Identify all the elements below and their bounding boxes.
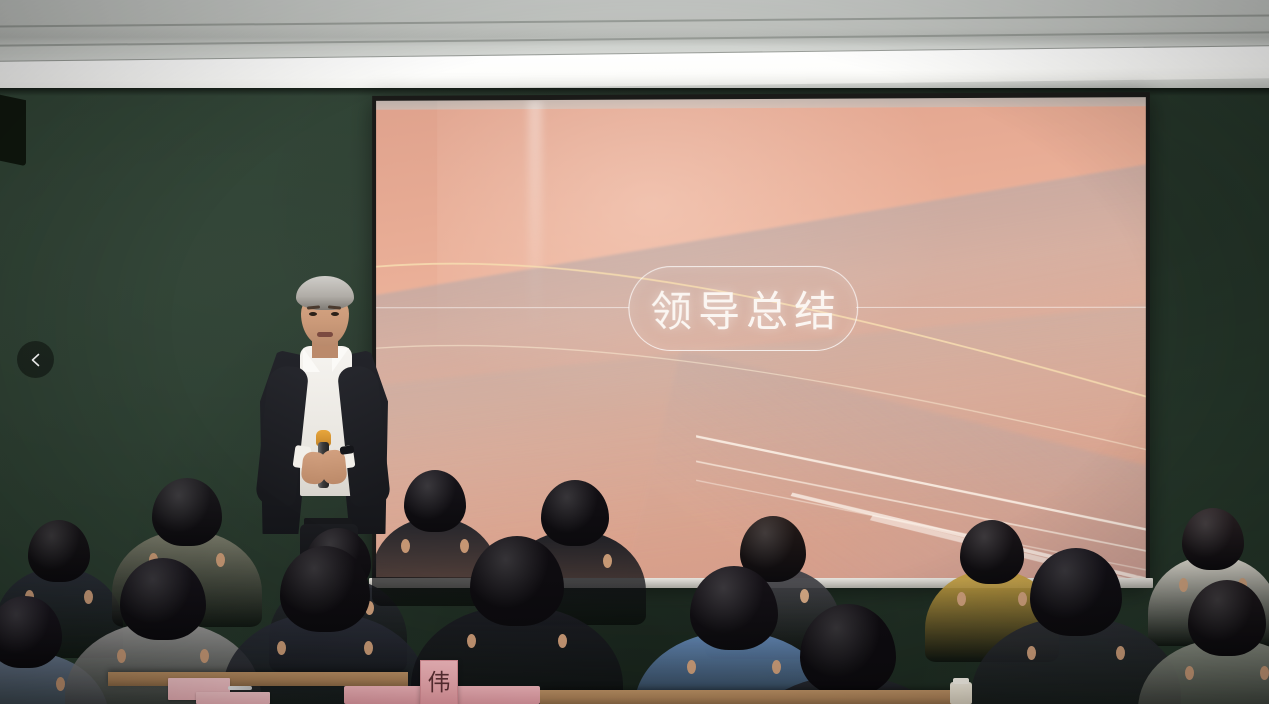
audience-member-head [404, 470, 466, 532]
audience-member-ear [364, 641, 373, 655]
audience-member-head [470, 536, 564, 626]
audience-member-head [1030, 548, 1122, 636]
audience-member-head [690, 566, 778, 650]
conference-table [540, 690, 960, 704]
audience-member-ear [56, 677, 65, 691]
audience-member-ear [687, 660, 696, 674]
audience-member-ear [1185, 666, 1194, 680]
audience-member-head [1188, 580, 1266, 656]
slide-title-pill: 领导总结 [628, 266, 858, 351]
name-placard-text: 伟 [428, 672, 451, 695]
audience-member-ear [277, 641, 286, 655]
audience-member-ear [772, 660, 781, 674]
audience-member-ear [1027, 646, 1036, 660]
slide-divider-right [856, 307, 1146, 309]
audience-member-head [28, 520, 90, 582]
audience [0, 444, 1269, 704]
chevron-left-icon [28, 352, 44, 368]
audience-member-head [960, 520, 1024, 584]
water-bottle-cap [953, 678, 969, 684]
presenter-hair [296, 276, 354, 310]
audience-member-head [0, 596, 62, 668]
audience-member-ear [1116, 646, 1125, 660]
audience-member-ear [1260, 666, 1269, 680]
audience-member-head [152, 478, 222, 546]
ceiling-seam [0, 31, 1269, 46]
audience-member-head [800, 604, 896, 696]
audience-member-ear [200, 649, 209, 663]
slide-title-text: 领导总结 [644, 278, 842, 339]
ceiling-speaker [0, 92, 26, 167]
audience-member-head [120, 558, 206, 640]
conference-table [108, 672, 408, 686]
audience-member-ear [1018, 592, 1027, 606]
presenter-eye [331, 312, 339, 316]
pen [228, 686, 252, 690]
audience-member-ear [117, 649, 126, 663]
audience-member [1188, 580, 1269, 704]
ceiling-seam [0, 14, 1269, 27]
previous-slide-button[interactable] [17, 341, 54, 378]
water-bottle [950, 682, 972, 704]
document-paper [196, 692, 270, 704]
audience-member-head [280, 546, 370, 632]
presenter-eye [309, 312, 317, 316]
name-placard: 伟 [420, 660, 458, 704]
presenter-mouth [317, 332, 333, 337]
slide-divider-left [376, 307, 629, 309]
presentation-photo-scene: 领导总结 伟 [0, 0, 1269, 704]
